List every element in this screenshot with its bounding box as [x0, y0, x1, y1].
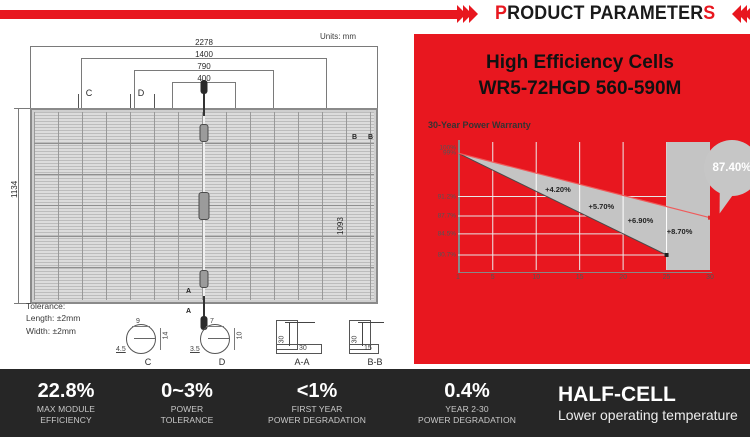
detail-d-dim-top: 7	[210, 318, 214, 325]
detail-c-top-dim-line	[132, 326, 150, 327]
detail-c-hatch	[134, 338, 156, 339]
junction-box-top	[200, 124, 209, 142]
stat-caption-line2: TOLERANCE	[134, 415, 240, 426]
detail-d-dim-left: 3.5	[190, 346, 200, 353]
chart-y-tick: 99%	[426, 150, 456, 157]
stat-value: 0.4%	[394, 380, 540, 402]
stat-value: 0~3%	[134, 380, 240, 402]
page-title-suffix: S	[703, 3, 715, 24]
dimension-2278: 2278	[150, 38, 258, 47]
detail-view-a-a: 30 30 A-A	[271, 318, 333, 366]
dimension-ext-left-1400	[81, 58, 82, 108]
dimension-ext-left-2278	[30, 46, 31, 108]
chart-x-tick: 10	[532, 274, 540, 281]
leader-line-d1	[130, 94, 131, 108]
product-headline: High Efficiency Cells	[412, 52, 748, 74]
right-panel: High Efficiency Cells WR5-72HGD 560-590M…	[412, 34, 748, 364]
chart-y-tick: 80.7%	[426, 251, 456, 258]
detail-d-hatch	[208, 338, 230, 339]
page-title-middle: RODUCT PARAMETER	[507, 3, 703, 24]
detail-c-right-dim-line	[160, 328, 161, 350]
stat-caption-line2: POWER DEGRADATION	[244, 415, 390, 426]
chart-band-label: +8.70%	[667, 227, 693, 236]
section-mark-b-left: B	[352, 134, 357, 141]
chart-y-tick: 84.5%	[426, 230, 456, 237]
dimension-790: 790	[150, 62, 258, 71]
leader-line-d2	[154, 94, 155, 108]
chart-y-tick: 87.7%	[426, 213, 456, 220]
stat-caption-line1: YEAR 2-30	[394, 404, 540, 415]
chart-x-tick: 20	[619, 274, 627, 281]
chart-band-label: +4.20%	[545, 185, 571, 194]
feature-subtitle: Lower operating temperature	[558, 407, 738, 424]
dimension-line-1134	[18, 108, 19, 304]
chart-x-axis	[458, 272, 712, 273]
callout-c: C	[82, 88, 96, 98]
section-aa-web	[289, 322, 290, 346]
dimension-ext-left-400	[172, 82, 173, 108]
detail-c-dim-left: 4.5	[116, 346, 126, 353]
tolerance-note: Tolerance: Length: ±2mm Width: ±2mm	[26, 300, 80, 337]
stat-caption-line1: MAX MODULE	[2, 404, 130, 415]
feature-half-cell: HALF-CELL Lower operating temperature	[542, 383, 738, 424]
power-warranty-chart: 100%99%91.2%87.7%84.5%80.7% 151015202530…	[426, 134, 736, 304]
dimension-1134: 1134	[10, 181, 19, 198]
bottom-stats-bar: 22.8% MAX MODULE EFFICIENCY 0~3% POWER T…	[0, 369, 750, 437]
chart-title: 30-Year Power Warranty	[428, 120, 531, 130]
header-chevrons-right	[732, 5, 750, 23]
section-bb-dim-horizontal: 15	[364, 345, 372, 352]
detail-d-dim-right: 10	[236, 332, 243, 340]
page-title: PRODUCT PARAMETERS	[495, 3, 715, 25]
section-mark-a-top: A	[186, 288, 191, 295]
detail-d-right-dim-line	[234, 328, 235, 350]
dimension-ext-right-1400	[326, 58, 327, 108]
chevron-left-icon	[744, 5, 750, 23]
chart-x-tick: 5	[491, 274, 495, 281]
feature-title: HALF-CELL	[558, 383, 738, 407]
callout-d: D	[134, 88, 148, 98]
product-model: WR5-72HGD 560-590M	[412, 78, 748, 100]
detail-d-label: D	[190, 357, 254, 367]
chart-plot-area	[458, 142, 710, 270]
tolerance-width: Width: ±2mm	[26, 325, 80, 337]
detail-c-circle	[126, 324, 156, 354]
stat-value: <1%	[244, 380, 390, 402]
section-bb-dim-vertical: 30	[351, 336, 358, 344]
section-bb-web	[362, 322, 363, 346]
chart-y-tick: 91.2%	[426, 193, 456, 200]
stat-power-tolerance: 0~3% POWER TOLERANCE	[132, 380, 242, 426]
dimension-1093: 1093	[336, 217, 345, 235]
stat-caption-line2: POWER DEGRADATION	[394, 415, 540, 426]
units-label: Units: mm	[320, 32, 356, 41]
dimension-1400: 1400	[150, 50, 258, 59]
chevron-right-icon	[469, 5, 478, 23]
header-bar-left	[0, 10, 458, 19]
chart-x-tick: 1	[456, 274, 460, 281]
stat-caption-line2: EFFICIENCY	[2, 415, 130, 426]
detail-d-circle	[200, 324, 230, 354]
chart-series-svg	[458, 142, 710, 270]
detail-c-dim-top: 9	[136, 318, 140, 325]
stat-value: 22.8%	[2, 380, 130, 402]
detail-view-c: 9 14 4.5 C	[116, 318, 180, 366]
detail-view-d: 7 10 3.5 D	[190, 318, 254, 366]
connector-top	[201, 80, 208, 94]
junction-box-center	[199, 192, 210, 220]
detail-view-b-b: 30 15 B-B	[344, 318, 406, 366]
section-mark-b-right: B	[368, 134, 373, 141]
annotation-bubble: 87.40%	[704, 140, 750, 196]
section-bb-label: B-B	[344, 357, 406, 367]
stat-caption: YEAR 2-30 POWER DEGRADATION	[394, 404, 540, 426]
stat-caption-line1: FIRST YEAR	[244, 404, 390, 415]
section-mark-a-bottom: A	[186, 308, 191, 315]
section-aa-dim-horizontal: 30	[299, 345, 307, 352]
chart-x-tick: 30	[706, 274, 714, 281]
stat-caption: POWER TOLERANCE	[134, 404, 240, 426]
chart-x-tick: 15	[576, 274, 584, 281]
dimension-ext-right-400	[235, 82, 236, 108]
section-aa-dim-vertical: 30	[278, 336, 285, 344]
stat-caption: FIRST YEAR POWER DEGRADATION	[244, 404, 390, 426]
detail-c-dim-right: 14	[162, 332, 169, 340]
header-chevrons-left	[460, 5, 478, 23]
chart-band-label: +6.90%	[628, 216, 654, 225]
stat-caption-line1: POWER	[134, 404, 240, 415]
section-aa-label: A-A	[271, 357, 333, 367]
detail-views: 9 14 4.5 C 7 10 3.5 D 30 30 A-A	[116, 318, 406, 366]
chart-band-label: +5.70%	[589, 202, 615, 211]
dimension-ext-right-790	[273, 70, 274, 108]
leader-line-c	[78, 94, 79, 108]
detail-c-label: C	[116, 357, 180, 367]
tolerance-length: Length: ±2mm	[26, 312, 80, 324]
tolerance-heading: Tolerance:	[26, 300, 80, 312]
dimension-ext-right-2278	[377, 46, 378, 108]
solar-module-outline	[30, 108, 378, 304]
junction-box-bottom	[200, 270, 209, 288]
stat-max-module-efficiency: 22.8% MAX MODULE EFFICIENCY	[0, 380, 132, 426]
stat-first-year-degradation: <1% FIRST YEAR POWER DEGRADATION	[242, 380, 392, 426]
module-technical-drawing: Units: mm 2278 1400 790 400 C D 1134	[6, 30, 406, 366]
detail-d-top-dim-line	[206, 326, 224, 327]
chart-x-tick: 25	[663, 274, 671, 281]
page-header: PRODUCT PARAMETERS	[0, 0, 750, 28]
page-title-prefix: P	[495, 3, 507, 24]
stat-caption: MAX MODULE EFFICIENCY	[2, 404, 130, 426]
stat-year-2-30-degradation: 0.4% YEAR 2-30 POWER DEGRADATION	[392, 380, 542, 426]
